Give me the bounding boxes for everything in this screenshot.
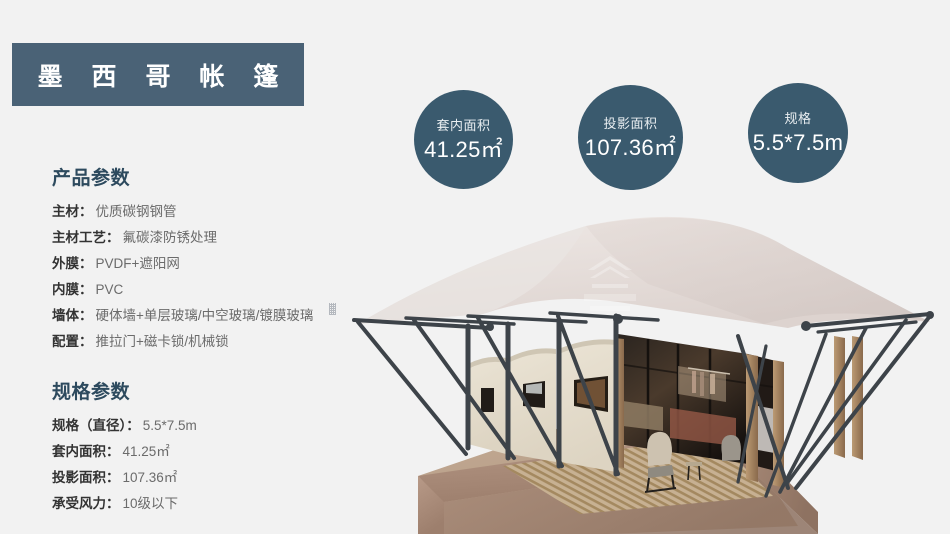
spec-row: 投影面积： 107.36㎡ [52,465,352,491]
spec-label: 承受风力： [52,491,120,517]
spec-label: 套内面积： [52,439,120,465]
spec-value: 优质碳钢钢管 [93,199,177,225]
section-heading-dimensions: 规格参数 [52,377,352,404]
spec-label: 外膜： [52,251,93,277]
spec-row: 墙体： 硬体墙+单层玻璃/中空玻璃/镀膜玻璃 [52,303,352,329]
spec-value: PVC [93,277,124,303]
section-heading-product: 产品参数 [52,163,352,190]
stat-badge-value: 41.25㎡ [424,139,503,161]
spec-value: 10级以下 [120,491,179,517]
spec-section-dimensions: 规格参数 规格（直径）： 5.5*7.5m 套内面积： 41.25㎡ 投影面积：… [52,377,352,517]
stat-badge-label: 投影面积 [603,117,657,130]
spec-value: 推拉门+磁卡锁/机械锁 [93,329,229,355]
canopy-roof [358,217,930,328]
spec-section-product: 产品参数 主材： 优质碳钢钢管 主材工艺： 氟碳漆防锈处理 外膜： PVDF+遮… [52,163,352,355]
spec-row: 套内面积： 41.25㎡ [52,439,352,465]
stat-badge-value: 107.36㎡ [585,137,676,159]
stat-badge-label: 套内面积 [436,119,490,132]
spec-row: 主材工艺： 氟碳漆防锈处理 [52,225,352,251]
spec-label: 配置： [52,329,93,355]
spec-row: 规格（直径）： 5.5*7.5m [52,413,352,439]
title-banner: 墨 西 哥 帐 篷 [12,43,304,106]
spec-panel: 产品参数 主材： 优质碳钢钢管 主材工艺： 氟碳漆防锈处理 外膜： PVDF+遮… [52,163,352,523]
spec-row: 内膜： PVC [52,277,352,303]
spec-label: 内膜： [52,277,93,303]
spec-value: 107.36㎡ [120,465,178,491]
stat-badge-value: 5.5*7.5m [753,132,843,154]
spec-label: 主材工艺： [52,225,120,251]
spec-row: 主材： 优质碳钢钢管 [52,199,352,225]
page-title: 墨 西 哥 帐 篷 [27,57,290,93]
spec-label: 投影面积： [52,465,120,491]
spec-row: 外膜： PVDF+遮阳网 [52,251,352,277]
spec-row: 承受风力： 10级以下 [52,491,352,517]
spec-value: 5.5*7.5m [140,413,197,439]
page-root: 墨 西 哥 帐 篷 产品参数 主材： 优质碳钢钢管 主材工艺： 氟碳漆防锈处理 … [0,0,950,534]
spec-value: 氟碳漆防锈处理 [120,225,218,251]
stat-badge-projected-area: 投影面积 107.36㎡ [578,85,683,190]
tent-illustration [318,196,950,534]
spec-value: 硬体墙+单层玻璃/中空玻璃/镀膜玻璃 [93,303,314,329]
stat-badge-label: 规格 [784,112,811,125]
spec-row: 配置： 推拉门+磁卡锁/机械锁 [52,329,352,355]
stat-badge-interior-area: 套内面积 41.25㎡ [414,90,513,189]
spec-label: 墙体： [52,303,93,329]
spec-value: 41.25㎡ [120,439,170,465]
stat-badge-size: 规格 5.5*7.5m [748,83,848,183]
spec-label: 主材： [52,199,93,225]
spec-value: PVDF+遮阳网 [93,251,180,277]
spec-label: 规格（直径）： [52,413,140,439]
